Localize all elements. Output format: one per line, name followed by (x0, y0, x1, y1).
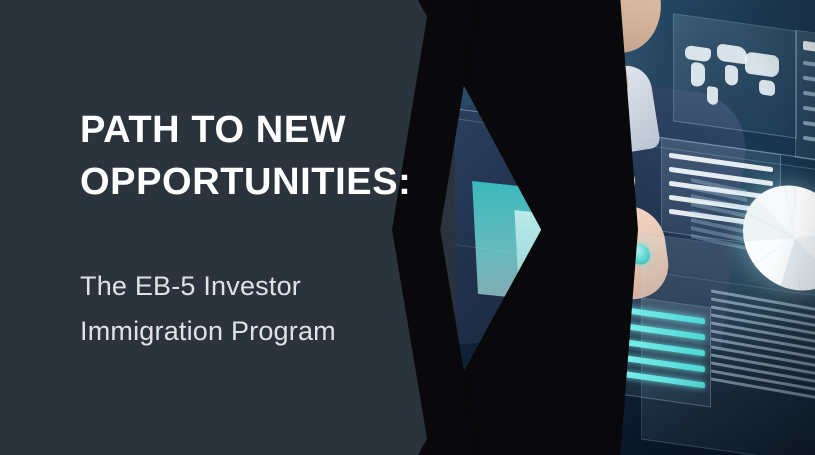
banner: PATH TO NEW OPPORTUNITIES: The EB-5 Inve… (0, 0, 815, 455)
text-block: PATH TO NEW OPPORTUNITIES: The EB-5 Inve… (80, 104, 450, 354)
subheading-line-1: The EB-5 Investor (80, 271, 301, 301)
page-subtitle: The EB-5 Investor Immigration Program (80, 208, 450, 354)
headline-line-1: PATH TO NEW (80, 109, 346, 151)
subheading-line-2: Immigration Program (80, 316, 336, 346)
page-title: PATH TO NEW OPPORTUNITIES: (80, 104, 450, 208)
headline-line-2: OPPORTUNITIES: (80, 161, 411, 203)
